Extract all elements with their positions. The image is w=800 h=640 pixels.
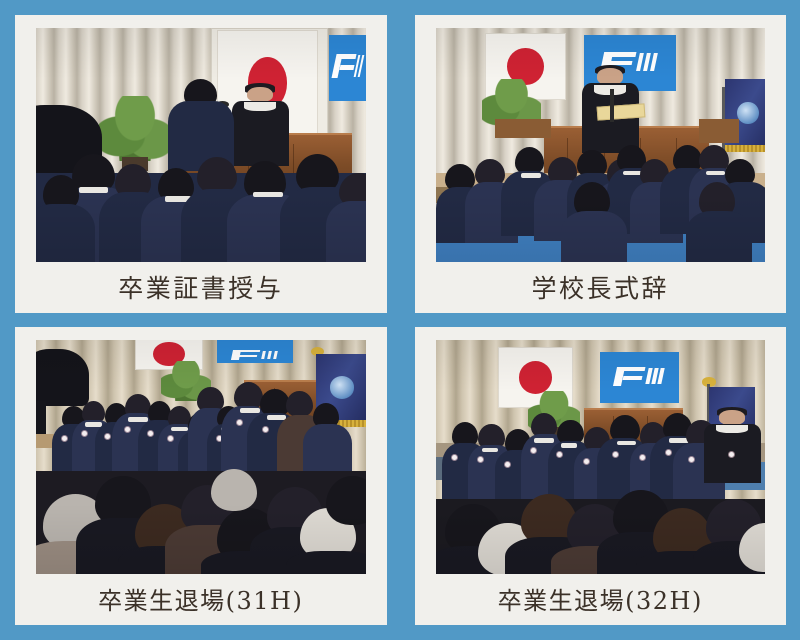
photo-graduation-certificate-presentation (36, 28, 366, 262)
photo-card-3[interactable]: 卒業生退場(31H) (15, 327, 387, 625)
photo-graduates-exit-31h (36, 340, 366, 574)
photo-card-2[interactable]: 学校長式辞 (415, 15, 787, 313)
graduate-body (303, 424, 352, 475)
podium-side-right (699, 119, 739, 142)
card-2-caption: 学校長式辞 (436, 262, 766, 313)
audience-body (36, 204, 95, 263)
photo-card-4[interactable]: 卒業生退場(32H) (415, 327, 787, 625)
teacher-figure (719, 410, 745, 438)
microphone-stand (610, 89, 614, 122)
photo-graduates-exit-32h (436, 340, 766, 574)
graduate-head (286, 391, 312, 417)
photo-principal-address (436, 28, 766, 262)
bonsai-pine (99, 96, 171, 162)
grand-piano (36, 349, 89, 405)
photo-grid: 卒業証書授与 (0, 0, 800, 640)
audience-body (286, 551, 365, 574)
podium-side-left (495, 119, 551, 138)
card-4-caption: 卒業生退場(32H) (436, 574, 766, 625)
school-banner-icon (329, 35, 365, 101)
card-1-caption: 卒業証書授与 (36, 262, 366, 313)
student-body (561, 211, 627, 262)
audience-head (211, 469, 257, 511)
student-body (686, 211, 752, 262)
photo-card-1[interactable]: 卒業証書授与 (15, 15, 387, 313)
card-3-caption: 卒業生退場(31H) (36, 574, 366, 625)
principal-figure (247, 87, 273, 117)
school-banner-icon (600, 352, 679, 403)
flag-fringe (725, 145, 765, 152)
school-banner-icon (217, 340, 293, 363)
audience-body (326, 201, 366, 262)
